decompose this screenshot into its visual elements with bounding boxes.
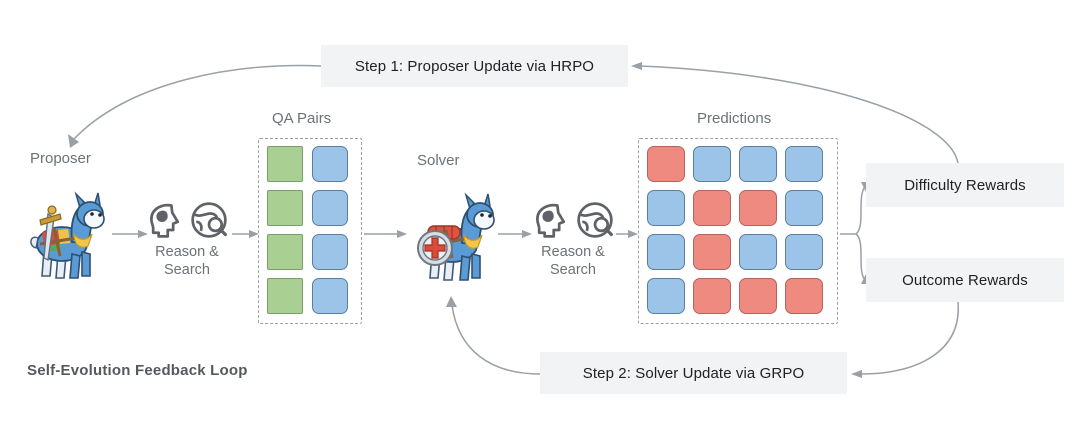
prediction-cell [739, 190, 777, 226]
predictions-caption: Predictions [697, 110, 771, 127]
prediction-cell [739, 234, 777, 270]
llama-with-shield-icon [402, 188, 502, 293]
qa-pairs-grid [267, 146, 348, 314]
prediction-cell [785, 234, 823, 270]
prediction-cell [647, 234, 685, 270]
prediction-cell [693, 190, 731, 226]
globe-search-icon [189, 200, 229, 240]
prediction-cell [647, 190, 685, 226]
prediction-cell [647, 146, 685, 182]
qa-cell [267, 234, 303, 270]
solver-label: Solver [417, 152, 460, 169]
reason-and-search-group-1: Reason & Search [132, 200, 242, 279]
llama-with-sword-icon [14, 188, 114, 288]
predictions-grid [647, 146, 823, 314]
qa-pairs-caption: QA Pairs [272, 110, 331, 127]
brain-head-icon [145, 200, 185, 240]
qa-cell [312, 190, 348, 226]
prediction-cell [693, 234, 731, 270]
prediction-cell [647, 278, 685, 314]
brain-head-icon [531, 200, 571, 240]
reason-search-label-line1: Reason & [518, 243, 628, 261]
qa-cell [267, 190, 303, 226]
step-1-label: Step 1: Proposer Update via HRPO [355, 58, 594, 75]
prediction-cell [693, 146, 731, 182]
reason-search-label-line2: Search [518, 261, 628, 279]
step-2-label: Step 2: Solver Update via GRPO [583, 365, 804, 382]
prediction-cell [785, 278, 823, 314]
proposer-label: Proposer [30, 150, 91, 167]
reason-and-search-group-2: Reason & Search [518, 200, 628, 279]
outcome-rewards-label: Outcome Rewards [902, 272, 1028, 289]
figure-canvas: Step 1: Proposer Update via HRPO Propose… [0, 0, 1080, 421]
prediction-cell [785, 190, 823, 226]
reason-search-icons [518, 200, 628, 240]
reason-search-label-line2: Search [132, 261, 242, 279]
outcome-rewards-box[interactable]: Outcome Rewards [866, 258, 1064, 302]
step-2-banner[interactable]: Step 2: Solver Update via GRPO [540, 352, 847, 394]
qa-cell [312, 234, 348, 270]
globe-search-icon [575, 200, 615, 240]
difficulty-rewards-label: Difficulty Rewards [904, 177, 1026, 194]
prediction-cell [739, 146, 777, 182]
reason-search-icons [132, 200, 242, 240]
qa-cell [267, 146, 303, 182]
prediction-cell [693, 278, 731, 314]
difficulty-rewards-box[interactable]: Difficulty Rewards [866, 163, 1064, 207]
qa-cell [267, 278, 303, 314]
reason-search-label-line1: Reason & [132, 243, 242, 261]
step-1-banner[interactable]: Step 1: Proposer Update via HRPO [321, 45, 628, 87]
prediction-cell [785, 146, 823, 182]
figure-title: Self-Evolution Feedback Loop [27, 362, 248, 379]
qa-cell [312, 278, 348, 314]
prediction-cell [739, 278, 777, 314]
qa-cell [312, 146, 348, 182]
